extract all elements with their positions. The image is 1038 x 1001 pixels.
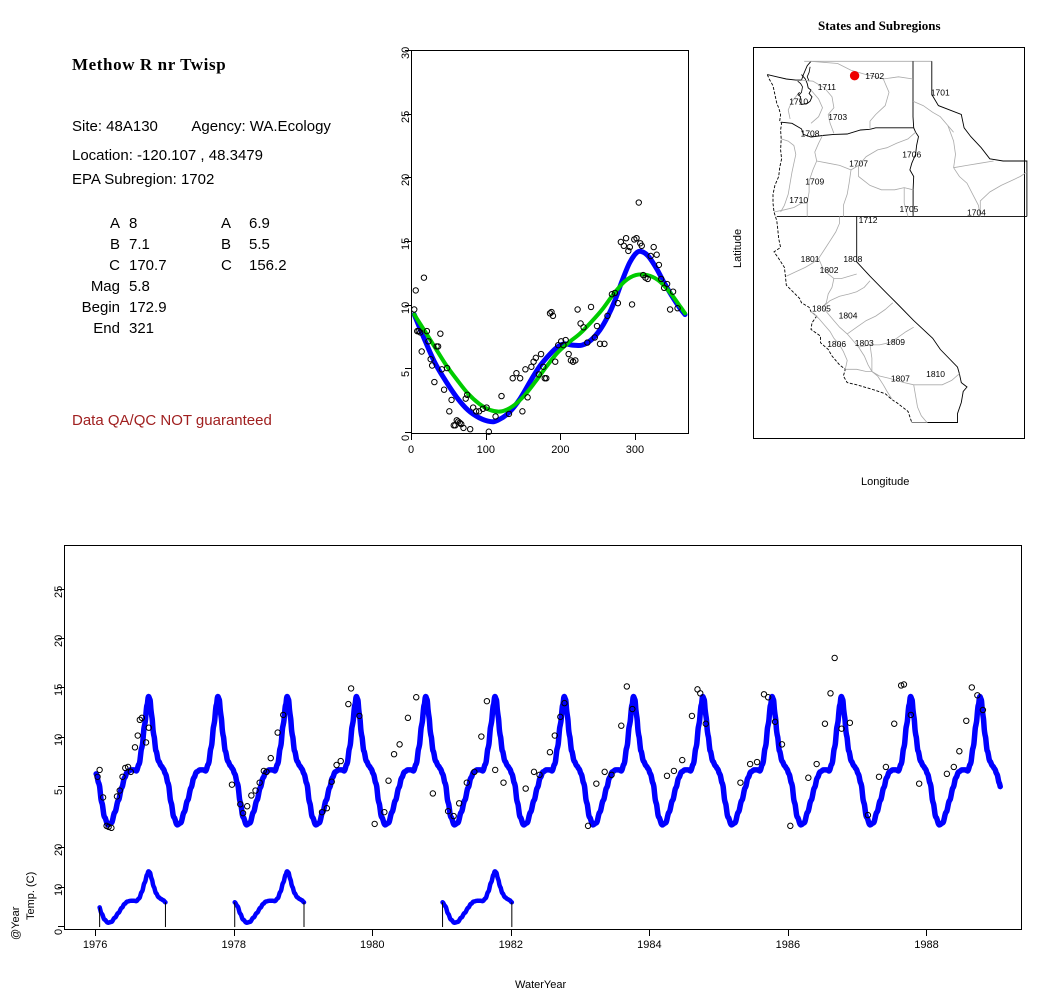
ts-sub-y-tick-label: 10 — [53, 884, 65, 896]
ts-x-tick-mark — [649, 930, 650, 936]
data-point — [964, 718, 969, 723]
data-point — [892, 721, 897, 726]
ts-x-tick-mark — [95, 930, 96, 936]
data-point — [405, 715, 410, 720]
data-point — [671, 768, 676, 773]
ts-x-tick-label: 1988 — [908, 939, 944, 951]
x-tick-label: 200 — [551, 444, 569, 456]
data-point — [594, 323, 599, 328]
x-tick-label: 0 — [402, 444, 420, 456]
y-tick-label: 25 — [400, 110, 412, 122]
map-subregion-label: 1807 — [891, 374, 910, 384]
data-point — [486, 429, 491, 434]
ts-x-tick-label: 1978 — [216, 939, 252, 951]
ts-y-tick-label: 25 — [53, 586, 65, 598]
data-point — [698, 691, 703, 696]
sub-panel-fit-curve — [100, 871, 166, 922]
data-point — [249, 793, 254, 798]
data-point — [916, 781, 921, 786]
data-point — [547, 750, 552, 755]
data-point — [883, 764, 888, 769]
data-point — [493, 414, 498, 419]
timeseries-y-axis-title: Temp. (C) — [25, 872, 37, 920]
map-boundary — [872, 372, 960, 385]
data-point — [97, 767, 102, 772]
map-boundary — [980, 172, 1027, 216]
map-subregion-label: 1802 — [820, 265, 839, 275]
data-point — [438, 331, 443, 336]
data-point — [651, 244, 656, 249]
data-point — [525, 395, 530, 400]
y-tick-label: 20 — [400, 174, 412, 186]
data-point — [538, 351, 543, 356]
fit-curve-fit-blue — [414, 251, 685, 422]
data-point — [520, 409, 525, 414]
map-boundary — [912, 385, 927, 423]
x-tick-label: 100 — [477, 444, 495, 456]
data-point — [386, 778, 391, 783]
map-boundary — [870, 345, 872, 372]
map-subregion-label: 1712 — [859, 215, 878, 225]
data-point — [788, 823, 793, 828]
data-point — [414, 695, 419, 700]
data-point — [510, 376, 515, 381]
map-subregion-label: 1707 — [849, 159, 868, 169]
data-point — [747, 761, 752, 766]
data-point — [523, 786, 528, 791]
data-point — [689, 713, 694, 718]
ts-y-tick-label: 5 — [53, 788, 65, 794]
data-point — [876, 774, 881, 779]
data-point — [441, 387, 446, 392]
map-subregion-label: 1801 — [801, 254, 820, 264]
map-subregion-label: 1704 — [967, 207, 986, 217]
map-boundary — [843, 170, 851, 217]
data-point — [244, 804, 249, 809]
data-point — [493, 767, 498, 772]
data-point — [229, 782, 234, 787]
ts-x-tick-mark — [926, 930, 927, 936]
data-point — [430, 791, 435, 796]
ts-x-tick-label: 1980 — [354, 939, 390, 951]
data-point — [372, 821, 377, 826]
y-tick-label: 5 — [400, 371, 412, 377]
states-subregions-map-panel: States and Subregions 171117101702170117… — [720, 0, 1038, 500]
data-point — [624, 684, 629, 689]
ts-x-tick-mark — [788, 930, 789, 936]
data-point — [588, 304, 593, 309]
data-point — [413, 288, 418, 293]
data-point — [449, 397, 454, 402]
map-subregion-label: 1710 — [789, 97, 808, 107]
data-point — [553, 359, 558, 364]
y-tick-mark — [405, 432, 411, 433]
data-point — [594, 781, 599, 786]
timeseries-x-axis-title: WaterYear — [515, 979, 566, 991]
map-boundary — [932, 61, 1027, 216]
timeseries-plot-area — [64, 545, 1022, 930]
data-point — [447, 409, 452, 414]
ts-sub-y-tick-label: 20 — [53, 844, 65, 856]
data-point — [529, 364, 534, 369]
timeseries-fit-curve — [96, 697, 1000, 825]
map-boundary — [883, 77, 913, 79]
map-subregion-label: 1711 — [818, 82, 837, 92]
data-point — [268, 755, 273, 760]
sub-panel-fit-curve — [443, 871, 512, 922]
map-plot-area[interactable]: 1711171017021701170317081706170717091710… — [753, 47, 1025, 439]
ts-x-tick-label: 1986 — [770, 939, 806, 951]
map-subregion-label: 1810 — [926, 369, 945, 379]
ts-x-tick-label: 1984 — [631, 939, 667, 951]
ts-sub-y-tick-label: 0 — [53, 929, 65, 935]
x-tick-mark — [560, 434, 561, 440]
data-point — [944, 771, 949, 776]
y-tick-label: 30 — [400, 47, 412, 59]
map-subregion-label: 1709 — [805, 176, 824, 186]
map-boundary — [870, 79, 889, 129]
data-point — [738, 780, 743, 785]
map-boundary — [811, 90, 823, 123]
map-boundary — [857, 216, 967, 422]
data-point — [585, 823, 590, 828]
map-subregion-label: 1708 — [801, 129, 820, 139]
data-point — [391, 751, 396, 756]
data-point — [806, 775, 811, 780]
seasonal-scatter-panel: 0100200300051015202530 — [0, 0, 720, 500]
x-tick-mark — [635, 434, 636, 440]
data-point — [566, 351, 571, 356]
sub-panel-fit-curve — [235, 871, 304, 922]
map-subregion-label: 1808 — [843, 254, 862, 264]
ts-y-tick-label: 15 — [53, 684, 65, 696]
y-tick-label: 10 — [400, 301, 412, 313]
map-subregion-label: 1706 — [902, 150, 921, 160]
data-point — [951, 764, 956, 769]
data-point — [680, 757, 685, 762]
ts-y-tick-label: 20 — [53, 635, 65, 647]
map-boundary — [845, 369, 872, 371]
seasonal-scatter-plot-area — [411, 50, 689, 434]
data-point — [421, 275, 426, 280]
data-point — [531, 769, 536, 774]
data-point — [619, 723, 624, 728]
map-boundary — [913, 101, 954, 132]
data-point — [132, 745, 137, 750]
y-tick-label: 0 — [400, 435, 412, 441]
map-y-axis-title: Latitude — [732, 229, 744, 268]
wateryear-timeseries-panel: 1976197819801982198419861988510152025010… — [0, 500, 1038, 1001]
data-point — [338, 758, 343, 763]
map-subregion-label: 1806 — [827, 339, 846, 349]
map-subregion-label: 1805 — [812, 304, 831, 314]
ts-x-tick-mark — [372, 930, 373, 936]
map-subregion-label: 1705 — [900, 204, 919, 214]
data-point — [479, 734, 484, 739]
map-subregion-label: 1703 — [828, 112, 847, 122]
ts-x-tick-mark — [511, 930, 512, 936]
site-marker-icon[interactable] — [850, 72, 858, 80]
data-point — [832, 655, 837, 660]
map-subregion-label: 1702 — [865, 71, 884, 81]
data-point — [957, 749, 962, 754]
x-tick-label: 300 — [626, 444, 644, 456]
data-point — [419, 349, 424, 354]
ts-y-tick-label: 10 — [53, 733, 65, 745]
data-point — [523, 367, 528, 372]
data-point — [432, 379, 437, 384]
data-point — [484, 698, 489, 703]
data-point — [667, 307, 672, 312]
y-tick-label: 15 — [400, 238, 412, 250]
data-point — [412, 307, 417, 312]
data-point — [621, 243, 626, 248]
ts-sub-y-tick-mark — [58, 926, 64, 927]
data-point — [397, 742, 402, 747]
data-point — [629, 302, 634, 307]
data-point — [754, 759, 759, 764]
data-point — [822, 721, 827, 726]
data-point — [664, 773, 669, 778]
data-point — [501, 780, 506, 785]
map-subregion-label: 1804 — [839, 310, 858, 320]
map-boundary — [767, 75, 912, 423]
map-subregion-label: 1809 — [886, 337, 905, 347]
y-tick-mark — [405, 368, 411, 369]
map-boundary — [913, 61, 914, 128]
x-tick-mark — [486, 434, 487, 440]
data-point — [346, 701, 351, 706]
data-point — [828, 691, 833, 696]
map-boundary — [948, 126, 980, 217]
data-point — [602, 769, 607, 774]
data-point — [636, 200, 641, 205]
ts-x-tick-mark — [234, 930, 235, 936]
map-x-axis-title: Longitude — [861, 476, 909, 488]
map-boundary — [807, 67, 810, 81]
ts-y-tick-mark — [58, 786, 64, 787]
data-point — [135, 733, 140, 738]
ts-x-tick-label: 1982 — [493, 939, 529, 951]
data-point — [467, 426, 472, 431]
data-point — [517, 376, 522, 381]
map-subregion-label: 1710 — [789, 195, 808, 205]
map-title: States and Subregions — [818, 18, 941, 34]
map-boundary — [767, 61, 811, 80]
map-subregion-label: 1803 — [855, 338, 874, 348]
data-point — [514, 370, 519, 375]
ts-x-tick-label: 1976 — [77, 939, 113, 951]
timeseries-sub-y-axis-title: @Year — [10, 907, 22, 940]
data-point — [654, 252, 659, 257]
data-point — [575, 307, 580, 312]
data-point — [969, 685, 974, 690]
data-point — [348, 686, 353, 691]
map-boundary — [954, 161, 994, 168]
data-point — [499, 393, 504, 398]
data-point — [814, 761, 819, 766]
map-subregion-label: 1701 — [931, 88, 950, 98]
data-point — [623, 235, 628, 240]
